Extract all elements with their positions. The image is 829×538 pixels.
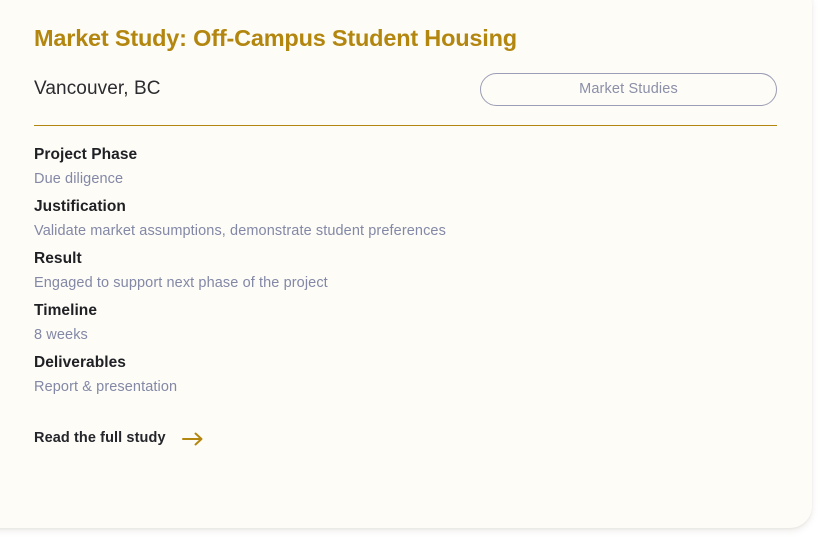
detail-label-result: Result bbox=[34, 251, 777, 267]
read-full-study-label: Read the full study bbox=[34, 431, 166, 446]
page-root: Market Study: Off-Campus Student Housing… bbox=[0, 0, 829, 538]
arrow-right-icon bbox=[182, 432, 204, 446]
detail-label-justification: Justification bbox=[34, 199, 777, 215]
detail-row: Justification Validate market assumption… bbox=[34, 199, 777, 238]
card-content: Market Study: Off-Campus Student Housing… bbox=[34, 0, 777, 446]
divider bbox=[34, 125, 777, 126]
detail-row: Timeline 8 weeks bbox=[34, 303, 777, 342]
read-full-study-link[interactable]: Read the full study bbox=[34, 431, 204, 446]
category-badge-label: Market Studies bbox=[579, 82, 678, 97]
detail-label-deliverables: Deliverables bbox=[34, 355, 777, 371]
details-list: Project Phase Due diligence Justificatio… bbox=[34, 147, 777, 394]
category-badge[interactable]: Market Studies bbox=[480, 73, 777, 106]
subtitle-row: Vancouver, BC Market Studies bbox=[34, 72, 777, 106]
detail-value-deliverables: Report & presentation bbox=[34, 380, 777, 395]
detail-row: Result Engaged to support next phase of … bbox=[34, 251, 777, 290]
detail-label-project-phase: Project Phase bbox=[34, 147, 777, 163]
location-text: Vancouver, BC bbox=[34, 78, 161, 101]
detail-value-result: Engaged to support next phase of the pro… bbox=[34, 276, 777, 291]
detail-value-project-phase: Due diligence bbox=[34, 172, 777, 187]
market-study-card: Market Study: Off-Campus Student Housing… bbox=[0, 0, 812, 528]
page-title: Market Study: Off-Campus Student Housing bbox=[34, 0, 777, 53]
detail-value-timeline: 8 weeks bbox=[34, 328, 777, 343]
detail-value-justification: Validate market assumptions, demonstrate… bbox=[34, 224, 777, 239]
detail-row: Deliverables Report & presentation bbox=[34, 355, 777, 394]
detail-row: Project Phase Due diligence bbox=[34, 147, 777, 186]
detail-label-timeline: Timeline bbox=[34, 303, 777, 319]
